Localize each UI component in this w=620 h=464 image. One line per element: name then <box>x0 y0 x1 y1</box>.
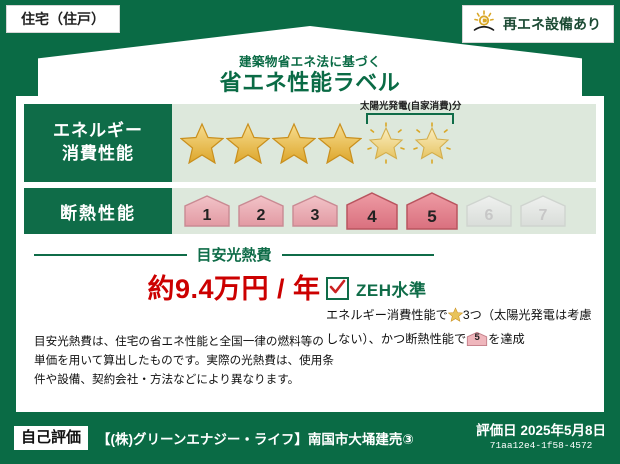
zeh-text-part3: を達成 <box>488 332 525 346</box>
insulation-chip-disabled: 7 <box>518 194 568 228</box>
zeh-description: エネルギー消費性能で3つ（太陽光発電は考慮しない）、かつ断熱性能で5を達成 <box>326 305 594 349</box>
divider-left <box>34 254 187 256</box>
zeh-block: ZEH水準 エネルギー消費性能で3つ（太陽光発電は考慮しない）、かつ断熱性能で5… <box>326 276 594 349</box>
insulation-chip-value: 4 <box>344 207 400 227</box>
energy-performance-label: 住宅（住戸） 再エネ設備あり 建築物省エネ法に基づく 省エネ性能ラベル <box>0 0 620 464</box>
page-title: 省エネ性能ラベル <box>38 72 582 94</box>
evaluation-id: 71aa12e4-1f58-4572 <box>476 439 606 453</box>
star-solar <box>410 122 454 164</box>
insulation-chip-disabled: 6 <box>464 194 514 228</box>
insulation-performance-row: 断熱性能 1 2 3 <box>24 188 596 234</box>
solar-caption: 太陽光発電(自家消費)分 <box>360 98 456 112</box>
cost-heading: 目安光熱費 <box>34 244 434 265</box>
renewable-badge-label: 再エネ設備あり <box>503 17 601 31</box>
divider-right <box>282 254 435 256</box>
zeh-heading: ZEH水準 <box>326 276 594 301</box>
cost-note: 目安光熱費は、住宅の省エネ性能と全国一律の燃料等の単価を用いて算出したものです。… <box>34 332 334 389</box>
star-filled <box>272 122 316 164</box>
insulation-label-cell: 断熱性能 <box>24 188 172 234</box>
insulation-chip-selected: 5 <box>404 191 460 231</box>
evaluation-date-label: 評価日 <box>476 423 517 438</box>
zeh-text-part1: エネルギー消費性能で <box>326 308 448 322</box>
evaluation-date-value: 2025年5月8日 <box>520 423 606 438</box>
footer: 自己評価 【(株)グリーンエナジー・ライフ】南国市大埇建売③ 評価日 2025年… <box>0 412 620 464</box>
insulation-chip-value: 2 <box>236 207 286 225</box>
evaluation-date: 評価日 2025年5月8日 <box>476 423 606 439</box>
insulation-chip-value: 3 <box>290 207 340 225</box>
renewable-energy-badge: 再エネ設備あり <box>462 5 614 43</box>
insulation-chip-value: 7 <box>518 207 568 225</box>
zeh-star-count: 3つ <box>463 308 482 322</box>
energy-label-line2: 消費性能 <box>53 143 143 166</box>
self-evaluation-badge: 自己評価 <box>14 426 88 449</box>
insulation-chip-value: 5 <box>404 207 460 227</box>
owner-name: 【(株)グリーンエナジー・ライフ】南国市大埇建売③ <box>97 428 414 448</box>
insulation-chips-area: 1 2 3 4 5 <box>172 188 596 234</box>
main-card: エネルギー 消費性能 <box>16 96 604 412</box>
insulation-chip-value: 1 <box>182 207 232 225</box>
insulation-chip: 1 <box>182 194 232 228</box>
building-type-tag: 住宅（住戸） <box>6 5 120 33</box>
label-subtitle: 建築物省エネ法に基づく <box>38 56 582 69</box>
star-solar <box>364 122 408 164</box>
zeh-checkbox[interactable] <box>326 277 349 300</box>
energy-stars-area: 太陽光発電(自家消費)分 <box>172 104 596 182</box>
insulation-chip-value: 6 <box>464 207 514 225</box>
zeh-chip-value: 5 <box>466 330 488 346</box>
star-filled <box>226 122 270 164</box>
solar-stars-group: 太陽光発電(自家消費)分 <box>364 122 456 164</box>
energy-performance-label-cell: エネルギー 消費性能 <box>24 104 172 182</box>
star-filled <box>180 122 224 164</box>
insulation-chip: 4 <box>344 191 400 231</box>
cost-heading-label: 目安光熱費 <box>197 244 272 265</box>
zeh-title: ZEH水準 <box>356 276 427 301</box>
star-icon <box>448 307 463 329</box>
star-filled <box>318 122 362 164</box>
sun-icon <box>471 10 497 38</box>
energy-performance-row: エネルギー 消費性能 <box>24 104 596 182</box>
evaluation-info: 評価日 2025年5月8日 71aa12e4-1f58-4572 <box>476 423 606 453</box>
insulation-chip-inline: 5 <box>466 331 488 347</box>
insulation-chip: 2 <box>236 194 286 228</box>
energy-label-line1: エネルギー <box>53 120 143 143</box>
insulation-chip: 3 <box>290 194 340 228</box>
